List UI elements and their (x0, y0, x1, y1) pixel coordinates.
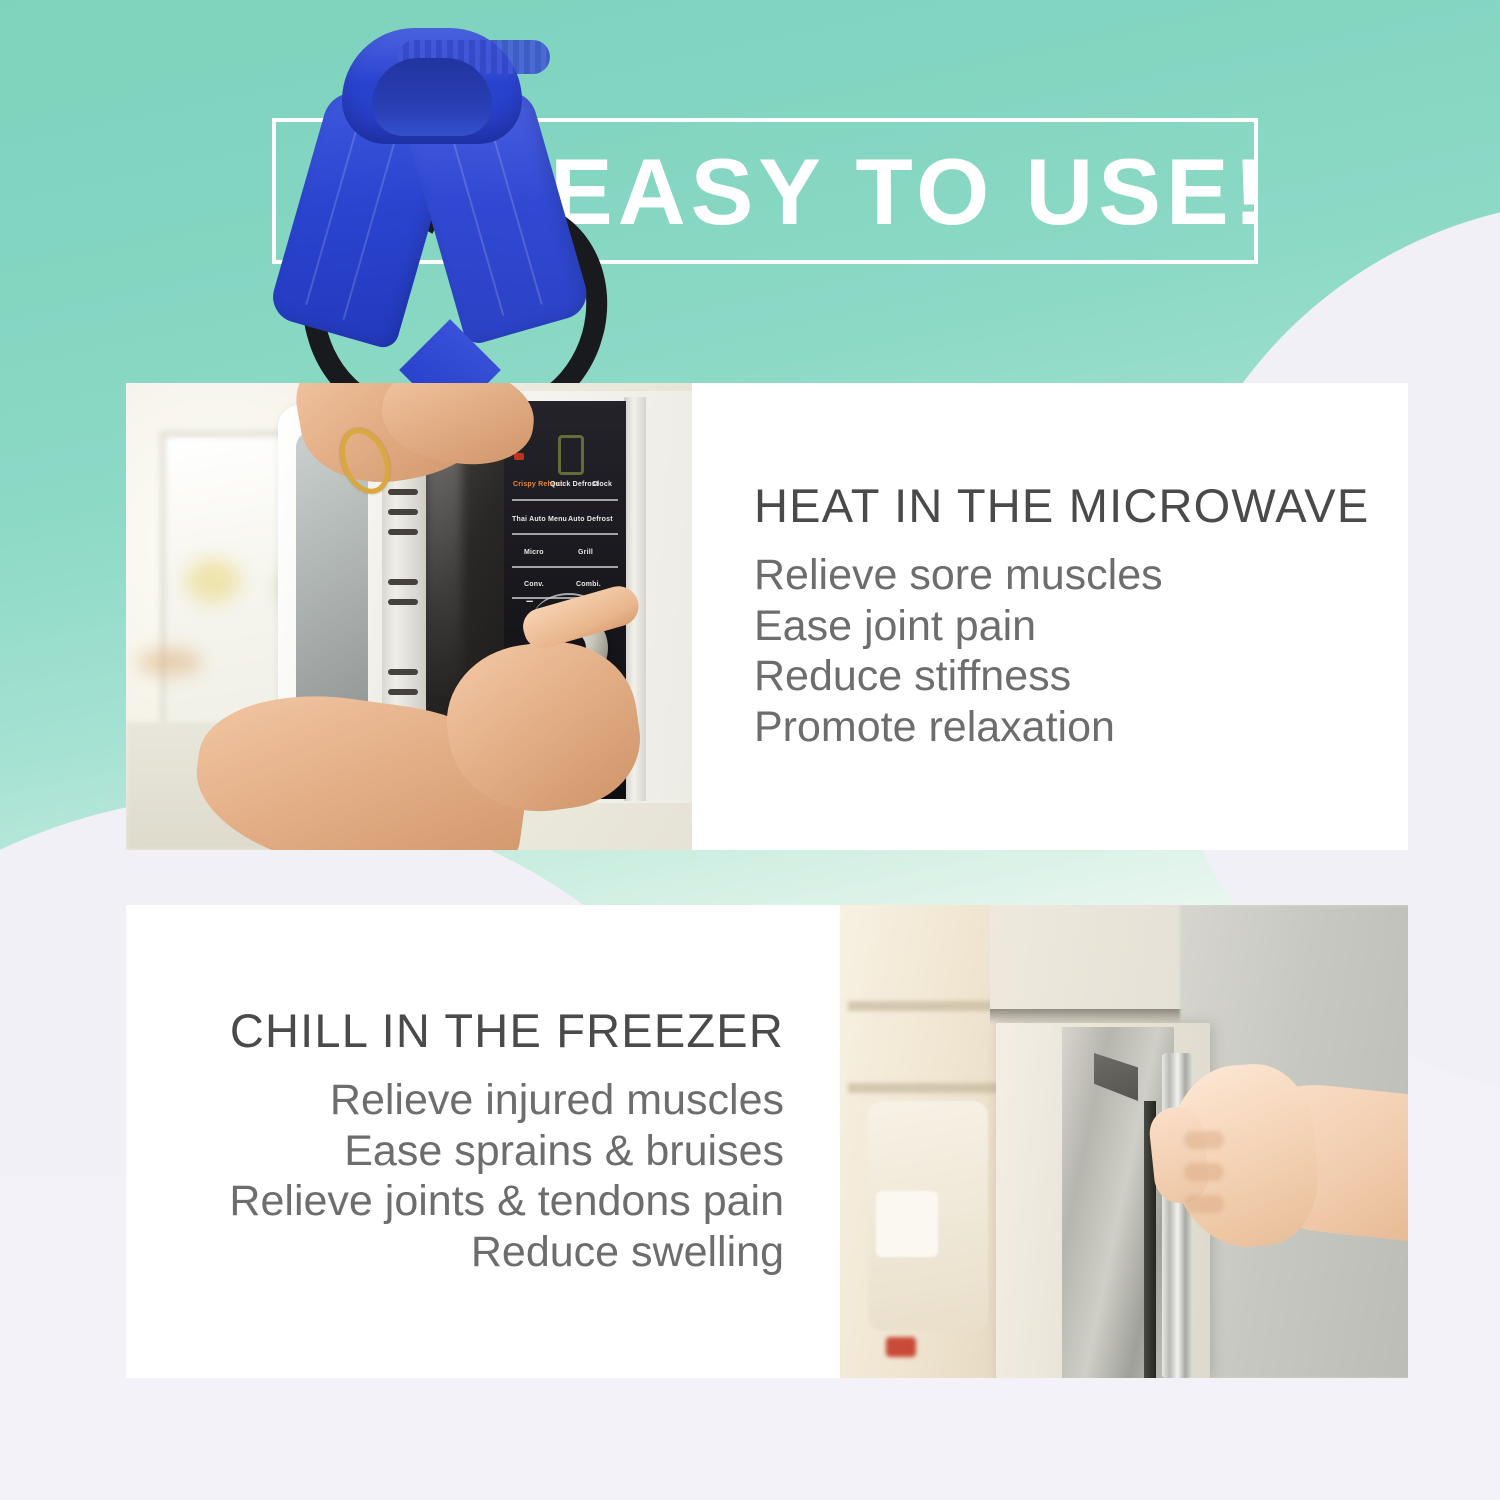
fridge-shelf (848, 1001, 998, 1011)
benefit-item: Ease joint pain (754, 601, 1163, 652)
panel-divider (512, 566, 618, 568)
benefit-item: Relieve sore muscles (754, 550, 1163, 601)
neck-wrap-collar-opening (372, 58, 492, 136)
benefit-list-chill: Relieve injured muscles Ease sprains & b… (229, 1075, 784, 1278)
microwave-vent-slot (388, 669, 418, 675)
microwave-cavity-sheen (426, 453, 462, 703)
knuckle-crease (1184, 1195, 1224, 1213)
page-title: EASY TO USE! (560, 133, 1260, 251)
microwave-vent-slot (388, 489, 418, 495)
microwave-vent-slot (388, 529, 418, 535)
neck-wrap-seam (447, 123, 504, 316)
background-bokeh (138, 649, 202, 675)
card-heat-in-the-microwave: Crispy Reheat Quick Defrost Clock Thai A… (126, 383, 1408, 850)
chill-text-pane: CHILL IN THE FREEZER Relieve injured mus… (126, 905, 840, 1378)
product-neck-wrap-image (300, 22, 564, 374)
benefit-list-heat: Relieve sore muscles Ease joint pain Red… (754, 550, 1163, 753)
benefit-item: Reduce stiffness (754, 651, 1163, 702)
dial-minus-sign: – (526, 593, 533, 608)
card-title-chill: CHILL IN THE FREEZER (230, 1005, 784, 1057)
knuckle-crease (1184, 1163, 1224, 1181)
button-clock[interactable]: Clock (592, 481, 612, 488)
panel-divider (512, 533, 618, 535)
benefit-item: Reduce swelling (229, 1227, 784, 1278)
microwave-vent-slot (388, 579, 418, 585)
panel-divider (512, 499, 618, 501)
card-title-heat: HEAT IN THE MICROWAVE (754, 480, 1369, 532)
fridge-shelf (848, 1083, 998, 1093)
fridge-container (876, 1191, 938, 1257)
heat-text-pane: HEAT IN THE MICROWAVE Relieve sore muscl… (692, 383, 1408, 850)
benefit-item: Relieve injured muscles (229, 1075, 784, 1126)
indicator-led (514, 453, 524, 460)
microwave-display (548, 429, 590, 475)
freezer-photo (840, 905, 1408, 1378)
microwave-vent-slot (388, 509, 418, 515)
button-thai-auto-menu[interactable]: Thai Auto Menu (512, 516, 567, 523)
button-micro[interactable]: Micro (524, 549, 544, 556)
button-auto-defrost[interactable]: Auto Defrost (568, 516, 613, 523)
button-combi[interactable]: Combi. (576, 581, 601, 588)
benefit-item: Promote relaxation (754, 702, 1163, 753)
knuckle-crease (1184, 1131, 1224, 1149)
background-bokeh (186, 559, 240, 603)
microwave-vent-slot (388, 599, 418, 605)
display-digit (558, 435, 584, 475)
button-conv[interactable]: Conv. (524, 581, 544, 588)
card-chill-in-the-freezer: CHILL IN THE FREEZER Relieve injured mus… (126, 905, 1408, 1378)
benefit-item: Ease sprains & bruises (229, 1126, 784, 1177)
fridge-item (886, 1337, 916, 1357)
microwave-vent-slot (388, 689, 418, 695)
microwave-photo: Crispy Reheat Quick Defrost Clock Thai A… (126, 383, 692, 850)
button-grill[interactable]: Grill (578, 549, 593, 556)
infographic-canvas: EASY TO USE! (0, 0, 1500, 1500)
benefit-item: Relieve joints & tendons pain (229, 1176, 784, 1227)
